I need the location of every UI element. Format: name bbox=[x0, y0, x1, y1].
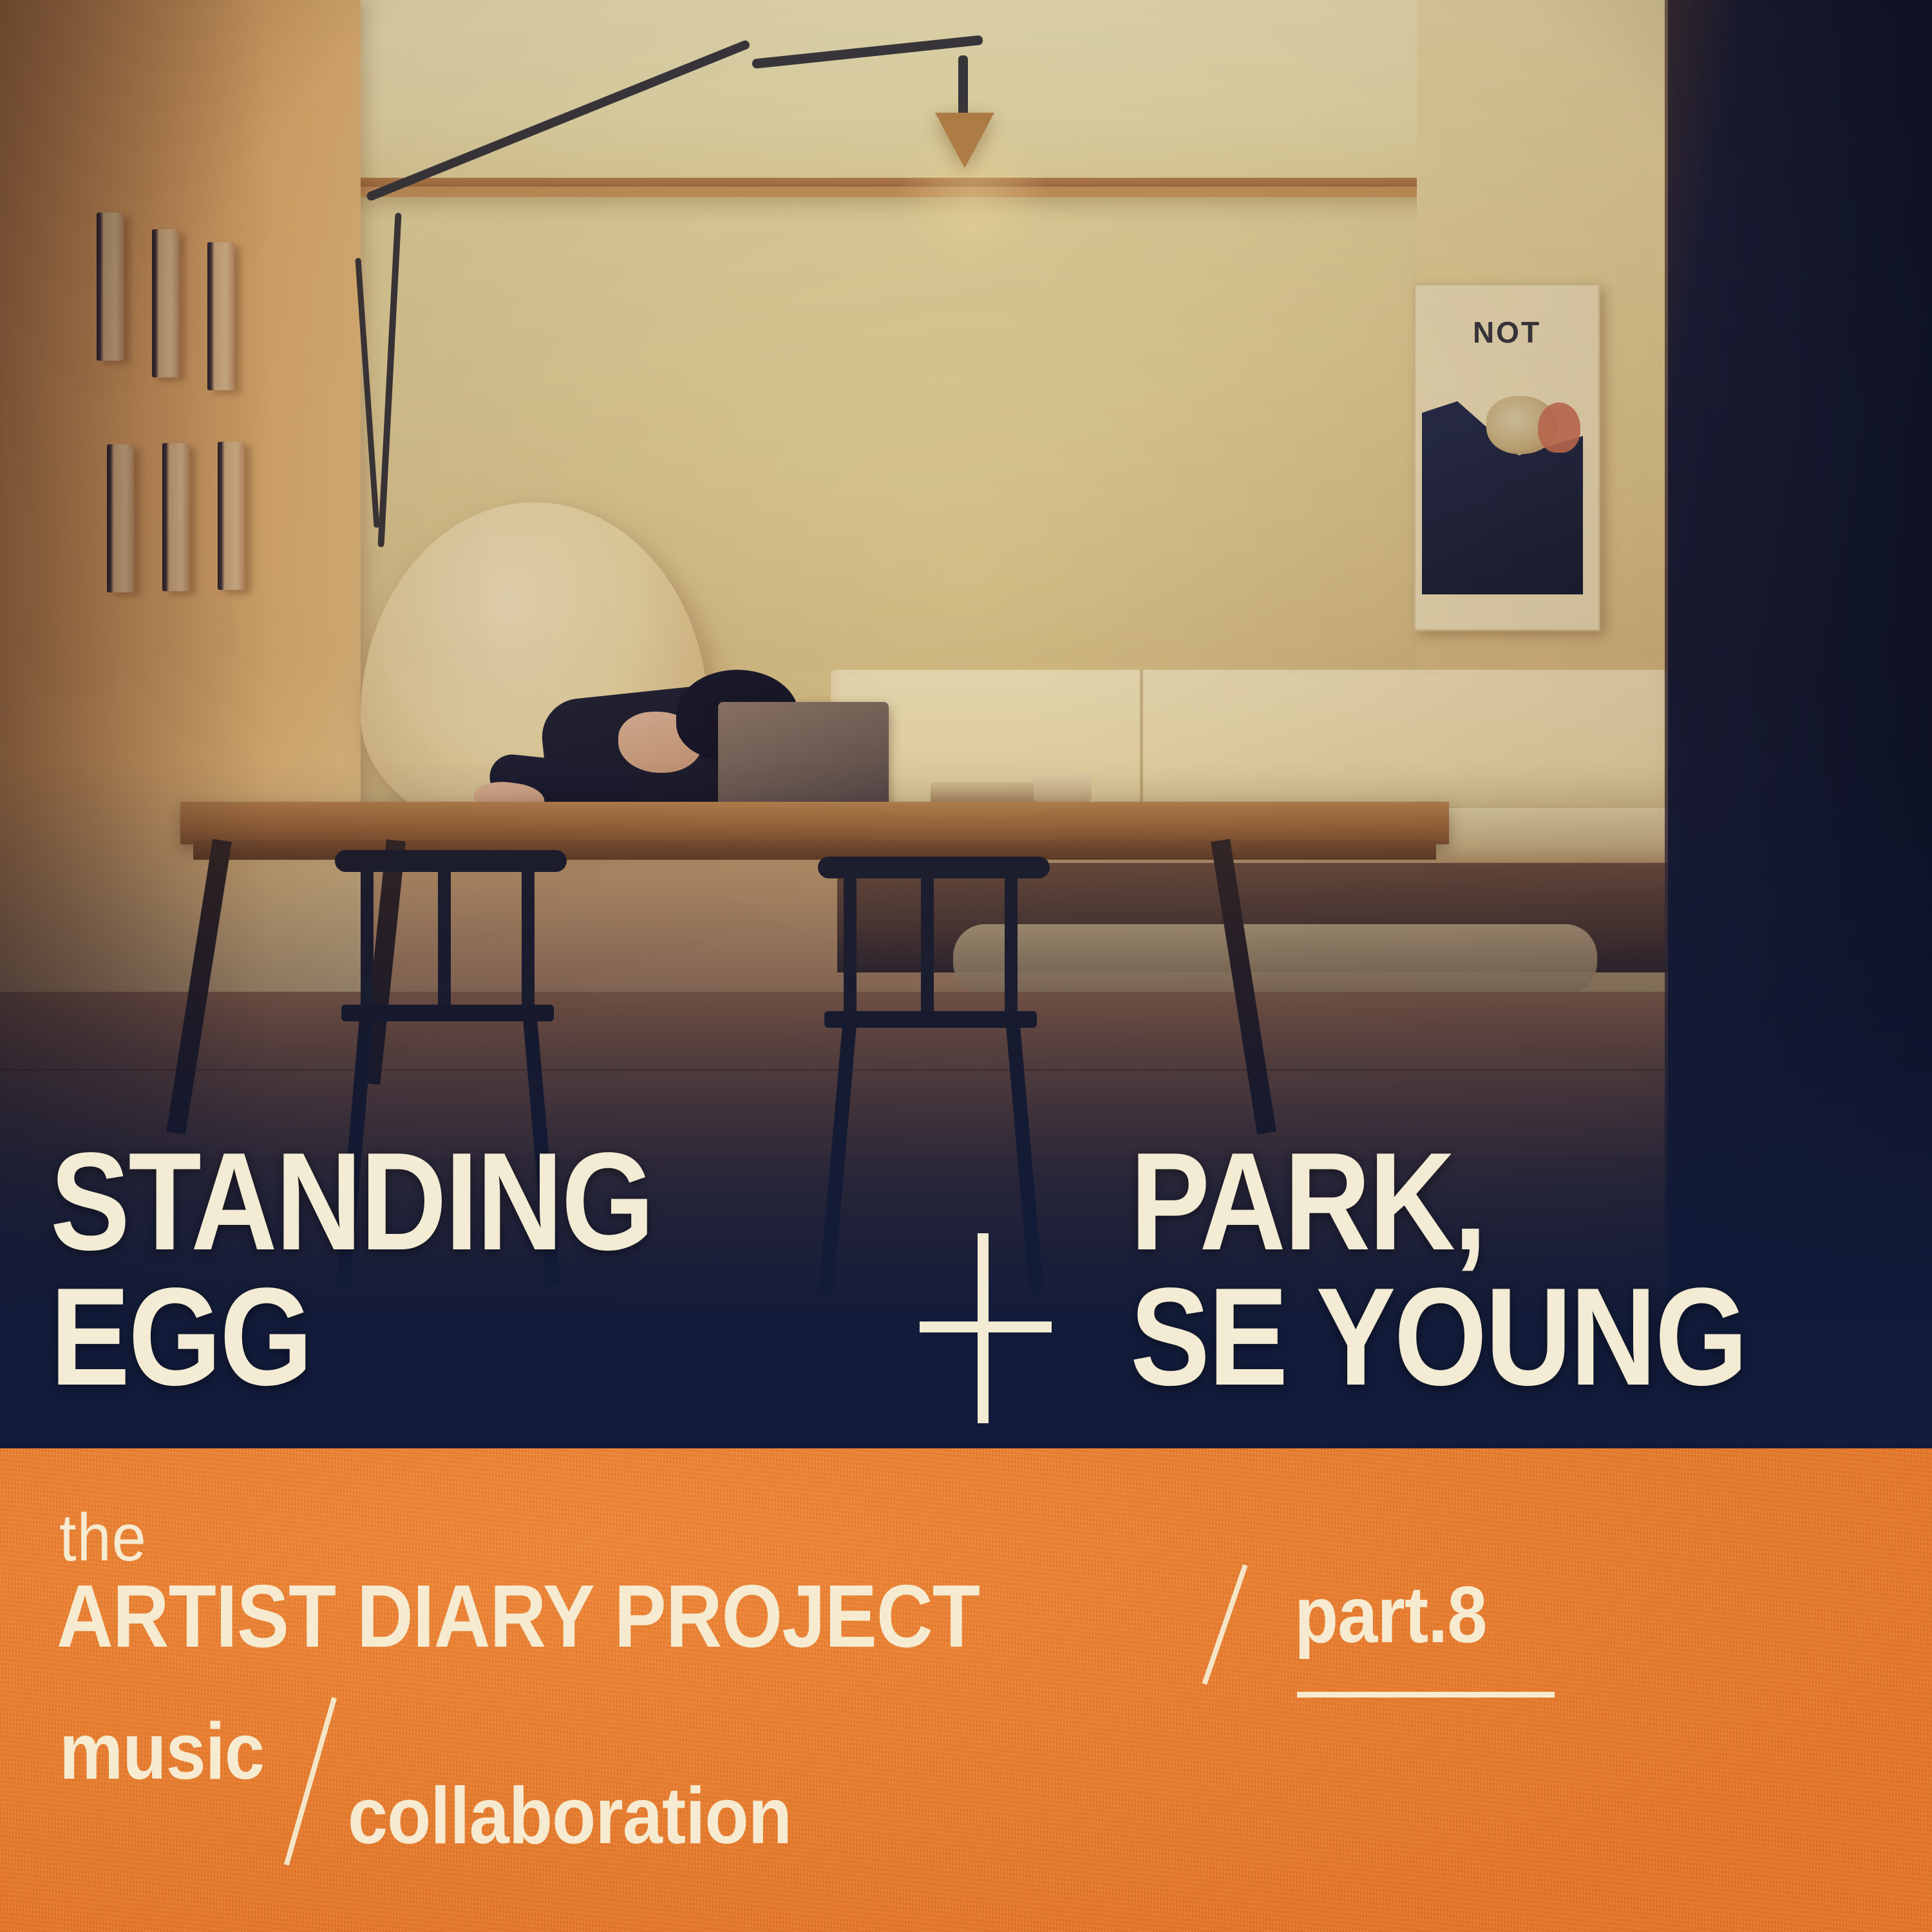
table-cup bbox=[1034, 773, 1092, 802]
wall-plaque bbox=[207, 242, 234, 390]
wall-plaque-group bbox=[97, 213, 290, 625]
table-book bbox=[931, 782, 1046, 803]
laptop bbox=[718, 702, 889, 815]
sofa-cushion bbox=[953, 924, 1597, 995]
wall-plaque bbox=[218, 442, 245, 590]
lamp-shade-icon bbox=[935, 113, 994, 168]
slash-divider-icon bbox=[1202, 1564, 1247, 1685]
project-title: ARTIST DIARY PROJECT bbox=[57, 1566, 980, 1668]
category-primary: music bbox=[59, 1706, 264, 1797]
album-cover-poster: NOT bbox=[0, 0, 1932, 1932]
framed-wall-poster: NOT bbox=[1414, 283, 1600, 631]
artist-title-band: STANDING EGG PARK, SE YOUNG bbox=[0, 1133, 1932, 1449]
wall-poster-accent bbox=[1538, 402, 1580, 453]
category-secondary: collaboration bbox=[348, 1770, 791, 1862]
wall-plaque bbox=[107, 444, 134, 592]
part-underline bbox=[1297, 1692, 1555, 1698]
artist-name-left: STANDING EGG bbox=[50, 1133, 653, 1404]
wall-plaque bbox=[152, 229, 179, 377]
artist-name-right: PARK, SE YOUNG bbox=[1130, 1133, 1747, 1404]
project-info-band: the ARTIST DIARY PROJECT part.8 music co… bbox=[0, 1448, 1932, 1932]
plus-icon bbox=[978, 1233, 989, 1423]
lamp-stem-icon bbox=[958, 55, 968, 120]
sofa-seam bbox=[1140, 670, 1143, 818]
wall-plaque bbox=[162, 443, 189, 591]
wall-plaque bbox=[97, 213, 124, 361]
part-label: part.8 bbox=[1294, 1569, 1487, 1661]
slash-divider-icon bbox=[284, 1697, 337, 1866]
wall-poster-text: NOT bbox=[1416, 315, 1598, 350]
dining-table-top bbox=[180, 802, 1449, 844]
